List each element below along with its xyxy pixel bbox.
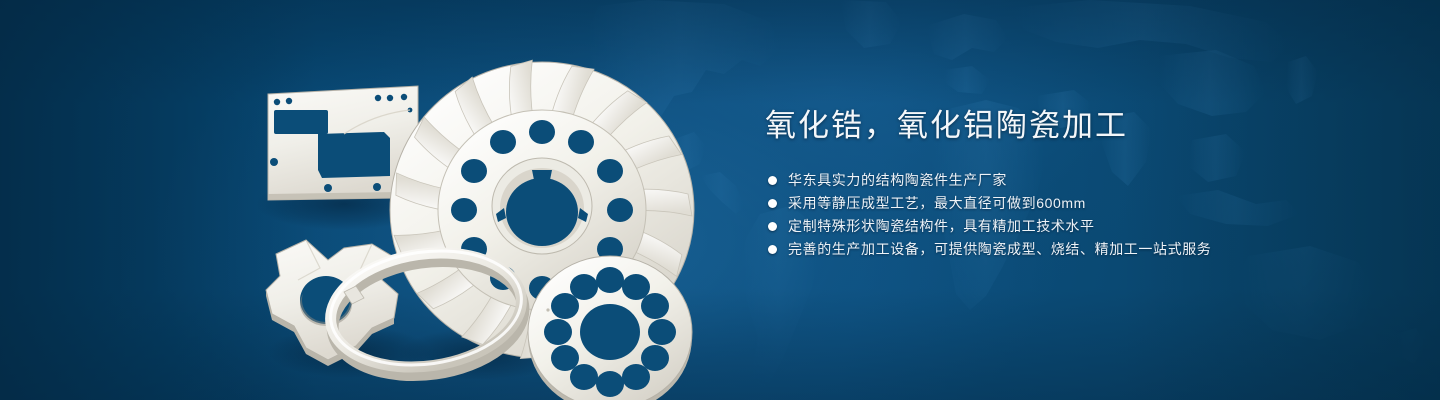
- hero-banner: 氧化锆，氧化铝陶瓷加工 华东具实力的结构陶瓷件生产厂家 采用等静压成型工艺，最大…: [0, 0, 1440, 400]
- list-item: 采用等静压成型工艺，最大直径可做到600mm: [768, 192, 1385, 214]
- ceramic-perforated-disc-part: [528, 256, 692, 400]
- list-item: 华东具实力的结构陶瓷件生产厂家: [768, 169, 1385, 191]
- banner-feature-list: 华东具实力的结构陶瓷件生产厂家 采用等静压成型工艺，最大直径可做到600mm 定…: [768, 169, 1385, 260]
- bullet-dot-icon: [768, 199, 777, 208]
- banner-copy: 氧化锆，氧化铝陶瓷加工 华东具实力的结构陶瓷件生产厂家 采用等静压成型工艺，最大…: [765, 104, 1385, 261]
- feature-text: 完善的生产加工设备，可提供陶瓷成型、烧结、精加工一站式服务: [788, 238, 1211, 260]
- list-item: 定制特殊形状陶瓷结构件，具有精加工技术水平: [768, 215, 1385, 237]
- bullet-dot-icon: [768, 176, 777, 185]
- feature-text: 华东具实力的结构陶瓷件生产厂家: [788, 169, 1007, 191]
- feature-text: 定制特殊形状陶瓷结构件，具有精加工技术水平: [788, 215, 1095, 237]
- banner-headline: 氧化锆，氧化铝陶瓷加工: [765, 104, 1385, 148]
- ceramic-products-photo: [232, 42, 712, 380]
- bullet-dot-icon: [768, 245, 777, 254]
- feature-text: 采用等静压成型工艺，最大直径可做到600mm: [788, 192, 1086, 214]
- list-item: 完善的生产加工设备，可提供陶瓷成型、烧结、精加工一站式服务: [768, 238, 1385, 260]
- bullet-dot-icon: [768, 222, 777, 231]
